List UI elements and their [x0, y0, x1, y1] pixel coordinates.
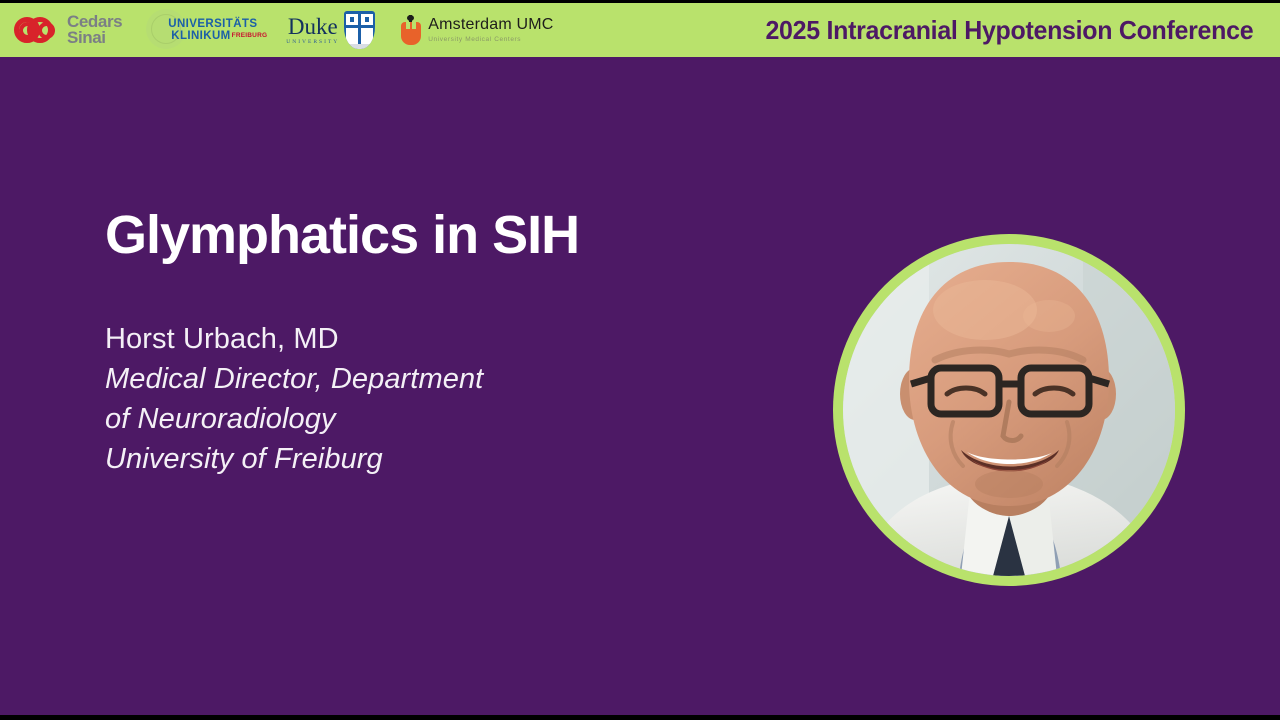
slide-copy-block: Glymphatics in SIH Horst Urbach, MD Medi…: [105, 207, 725, 479]
conference-title-slide: Cedars Sinai UNIVERSITÄTS KLINIKUM FREIB…: [0, 0, 1280, 720]
freiburg-line1: UNIVERSITÄTS: [168, 18, 266, 30]
letterbox-bar-top: [0, 0, 1280, 3]
cedars-sinai-mark-icon: [14, 13, 60, 47]
speaker-affiliation-line-2: of Neuroradiology: [105, 399, 725, 439]
sponsor-logo-strip: Cedars Sinai UNIVERSITÄTS KLINIKUM FREIB…: [0, 3, 554, 57]
speaker-name: Horst Urbach, MD: [105, 319, 725, 359]
freiburg-line3: FREIBURG: [232, 33, 268, 40]
conference-title: 2025 Intracranial Hypotension Conference: [765, 15, 1280, 46]
logo-universitaetsklinikum-freiburg: UNIVERSITÄTS KLINIKUM FREIBURG: [140, 8, 266, 52]
slide-body: Glymphatics in SIH Horst Urbach, MD Medi…: [0, 57, 1280, 715]
duke-line1: Duke: [288, 15, 338, 38]
cedars-sinai-wordmark: Cedars Sinai: [67, 14, 122, 47]
letterbox-bar-bottom: [0, 715, 1280, 720]
freiburg-wordmark: UNIVERSITÄTS KLINIKUM FREIBURG: [168, 18, 266, 42]
page-title: Glymphatics in SIH: [105, 207, 725, 264]
header-bar: Cedars Sinai UNIVERSITÄTS KLINIKUM FREIB…: [0, 3, 1280, 57]
duke-shield-icon: [344, 11, 375, 49]
logo-amsterdam-umc: Amsterdam UMC University Medical Centers: [401, 8, 553, 52]
cedars-sinai-line2: Sinai: [67, 30, 122, 46]
logo-cedars-sinai: Cedars Sinai: [14, 8, 122, 52]
duke-wordmark: Duke UNIVERSITY: [286, 15, 339, 45]
speaker-portrait-ring: [833, 234, 1185, 586]
amsterdam-umc-line2: University Medical Centers: [428, 36, 553, 43]
freiburg-line2: KLINIKUM: [171, 30, 230, 42]
speaker-affiliation-line-1: Medical Director, Department: [105, 359, 725, 399]
speaker-block: Horst Urbach, MD Medical Director, Depar…: [105, 319, 725, 479]
freiburg-line2-row: KLINIKUM FREIBURG: [168, 30, 266, 42]
logo-duke-university: Duke UNIVERSITY: [286, 8, 375, 52]
amsterdam-umc-wordmark: Amsterdam UMC University Medical Centers: [428, 17, 553, 43]
avatar: [843, 244, 1175, 576]
duke-line2: UNIVERSITY: [286, 39, 339, 45]
speaker-headshot-illustration: [843, 244, 1175, 576]
speaker-affiliation-line-3: University of Freiburg: [105, 439, 725, 479]
amsterdam-umc-line1: Amsterdam UMC: [428, 17, 553, 33]
amsterdam-umc-tulip-icon: [401, 15, 421, 45]
